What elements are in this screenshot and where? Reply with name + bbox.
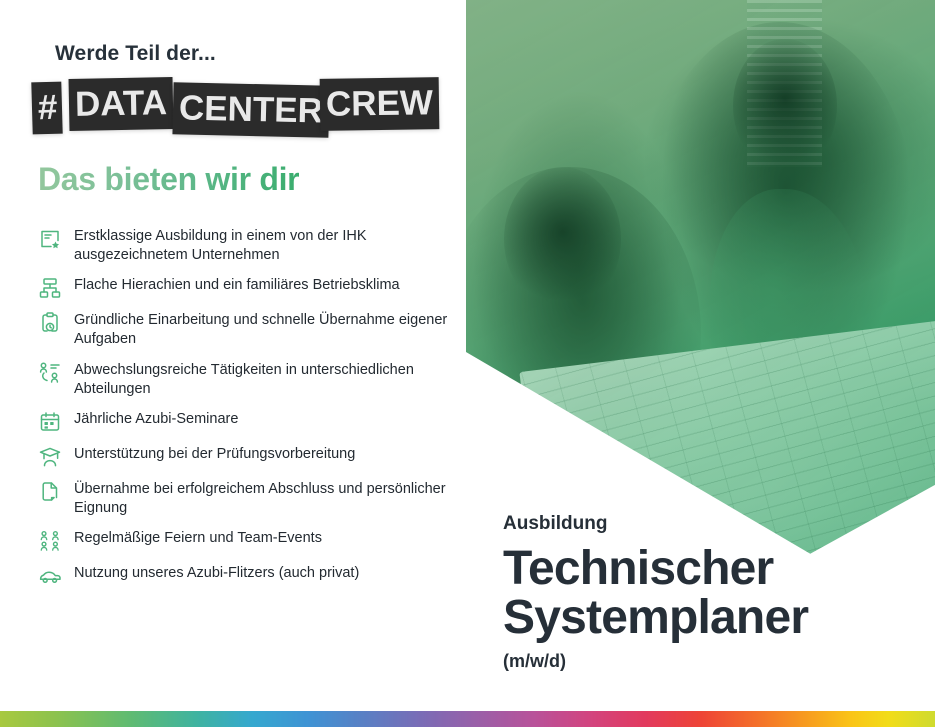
people-group-icon — [38, 529, 62, 553]
job-title-block: Ausbildung Technischer Systemplaner (m/w… — [503, 513, 923, 672]
green-duotone-overlay — [466, 0, 935, 556]
list-item-label: Erstklassige Ausbildung in einem von der… — [74, 226, 448, 265]
list-item: Flache Hierachien und ein familiäres Bet… — [38, 275, 448, 300]
org-chart-icon — [38, 276, 62, 300]
list-item: Erstklassige Ausbildung in einem von der… — [38, 226, 448, 265]
logo-center: CENTER — [172, 82, 329, 138]
logo-crew: CREW — [320, 77, 440, 131]
list-item-label: Jährliche Azubi-Seminare — [74, 409, 238, 429]
job-gender-suffix: (m/w/d) — [503, 651, 923, 672]
list-item-label: Flache Hierachien und ein familiäres Bet… — [74, 275, 400, 295]
list-item: Jährliche Azubi-Seminare — [38, 409, 448, 434]
list-item-label: Abwechslungsreiche Tätigkeiten in unters… — [74, 360, 448, 399]
list-item-label: Regelmäßige Feiern und Team-Events — [74, 528, 322, 548]
document-fold-icon — [38, 480, 62, 504]
logo-data: DATA — [69, 77, 174, 131]
certificate-star-icon — [38, 227, 62, 251]
list-item-label: Nutzung unseres Azubi-Flitzers (auch pri… — [74, 563, 359, 583]
eyebrow-text: Werde Teil der... — [55, 42, 216, 66]
team-tasks-icon — [38, 361, 62, 385]
list-item-label: Übernahme bei erfolgreichem Abschluss un… — [74, 479, 448, 518]
list-item: Abwechslungsreiche Tätigkeiten in unters… — [38, 360, 448, 399]
list-item-label: Gründliche Einarbeitung und schnelle Übe… — [74, 310, 448, 349]
job-title-line-2: Systemplaner — [503, 594, 923, 643]
graduation-cap-icon — [38, 445, 62, 469]
list-item: Übernahme bei erfolgreichem Abschluss un… — [38, 479, 448, 518]
flyer-page: Werde Teil der... # DATA CENTER CREW Das… — [0, 0, 935, 727]
job-title-line-1: Technischer — [503, 545, 923, 594]
logo-hash: # — [31, 82, 63, 135]
list-item: Unterstützung bei der Prüfungsvorbereitu… — [38, 444, 448, 469]
clipboard-clock-icon — [38, 311, 62, 335]
list-item: Nutzung unseres Azubi-Flitzers (auch pri… — [38, 563, 448, 588]
job-pretitle: Ausbildung — [503, 513, 923, 535]
hero-photo — [466, 0, 935, 556]
list-item-label: Unterstützung bei der Prüfungsvorbereitu… — [74, 444, 355, 464]
calendar-icon — [38, 410, 62, 434]
list-item: Regelmäßige Feiern und Team-Events — [38, 528, 448, 553]
list-item: Gründliche Einarbeitung und schnelle Übe… — [38, 310, 448, 349]
car-icon — [38, 564, 62, 588]
rainbow-footer-bar — [0, 711, 935, 727]
benefits-heading: Das bieten wir dir — [38, 161, 299, 198]
benefits-list: Erstklassige Ausbildung in einem von der… — [38, 226, 448, 598]
